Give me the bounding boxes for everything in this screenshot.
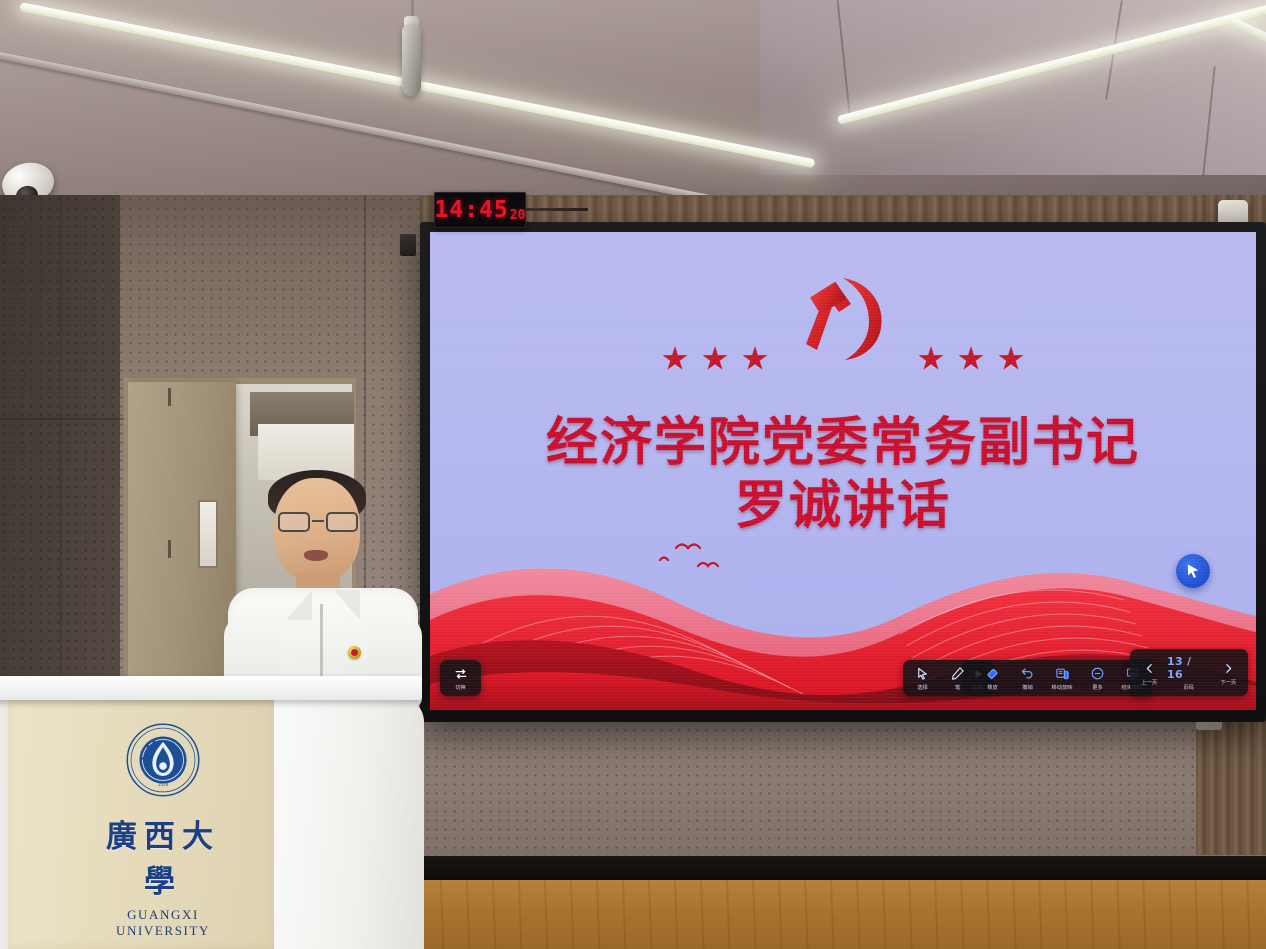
eraser-tool-button[interactable]: 橡皮 [975,664,1010,692]
podium-right-panel [274,696,424,949]
prev-page-label: 上一页 [1142,678,1158,686]
select-tool-button[interactable]: 选择 [905,664,940,692]
slide-title-line-1: 经济学院党委常务副书记 [430,412,1256,475]
undo-label: 撤销 [1022,683,1033,691]
red-star-icon [742,346,768,372]
slide-title: 经济学院党委常务副书记 罗诚讲话 [430,412,1256,539]
chevron-right-icon [1222,661,1235,676]
stars-right-group [918,346,1024,372]
chevron-left-icon [1143,661,1156,676]
svg-text:1928: 1928 [158,782,169,788]
hammer-and-sickle-emblem [773,270,913,370]
presentation-screen[interactable]: 经济学院党委常务副书记 罗诚讲话 [430,232,1256,710]
slide-title-line-2: 罗诚讲话 [430,475,1256,538]
stars-left-group [662,346,768,372]
eraser-tool-label: 橡皮 [987,683,998,691]
podium-top-surface [0,676,422,700]
mobile-present-button[interactable]: 移动放映 [1045,664,1080,692]
page-indicator-value: 13 / 16 [1167,655,1211,681]
guangxi-university-crest: 1928 [125,722,201,798]
collar-right [334,590,360,620]
toolbar-page-nav[interactable]: 上一页 13 / 16 页码 下一页 [1130,649,1248,696]
podium: 1928 廣西大學 GUANGXI UNIVERSITY [0,696,424,949]
eyeglasses [276,512,360,532]
interactive-display-bezel: 经济学院党委常务副书记 罗诚讲话 [420,222,1266,722]
switch-icon [454,666,468,681]
select-tool-label: 选择 [917,683,928,691]
clock-mounting-arm [526,208,588,211]
eraser-icon [985,666,1000,681]
lens-right [326,512,358,532]
glasses-bridge [312,520,324,522]
more-icon [1090,666,1105,681]
cursor-icon [915,666,930,681]
open-door[interactable] [128,382,236,706]
clock-seconds: 20 [510,208,526,223]
red-star-icon [958,346,984,372]
door-hinge [168,388,171,406]
red-star-icon [918,346,944,372]
wall-panel-seam [0,418,124,420]
wall-outlet-plate [400,234,416,256]
prev-page-button[interactable]: 上一页 [1132,659,1167,687]
page-indicator-label: 页码 [1184,683,1195,691]
lens-left [278,512,310,532]
hanging-microphone [402,24,421,96]
mobile-present-label: 移动放映 [1052,683,1073,691]
university-name-en: GUANGXI UNIVERSITY [88,907,238,939]
door-viewing-window [198,500,218,568]
toolbar-tools[interactable]: 选择 笔 橡皮 [903,660,1152,696]
birds-icon [660,545,718,567]
red-star-icon [998,346,1024,372]
pen-tool-label: 笔 [955,683,960,691]
page-indicator[interactable]: 13 / 16 页码 [1167,653,1211,692]
switch-button[interactable]: 切换 [443,664,478,692]
party-member-pin [348,646,361,659]
university-branding: 1928 廣西大學 GUANGXI UNIVERSITY [88,722,238,939]
more-label: 更多 [1092,683,1103,691]
door-hinge [168,540,171,558]
undo-icon [1020,666,1035,681]
pen-tool-button[interactable]: 笔 [940,664,975,692]
pen-icon [950,666,965,681]
speaker-person [228,478,418,708]
podium-front-panel: 1928 廣西大學 GUANGXI UNIVERSITY [8,696,280,949]
collar-left [286,590,312,620]
toolbar-switch[interactable]: 切换 [440,660,481,696]
next-page-button[interactable]: 下一页 [1211,659,1246,687]
red-star-icon [702,346,728,372]
undo-button[interactable]: 撤销 [1010,664,1045,692]
cursor-pointer-icon[interactable] [1176,554,1210,588]
mouth [304,550,328,561]
lecture-hall-photo: 经济学院党委常务副书记 罗诚讲话 [0,0,1266,949]
mobile-present-icon [1055,666,1070,681]
university-name-cn: 廣西大學 [88,811,238,901]
red-star-icon [662,346,688,372]
clock-hours-minutes: 14:45 [435,197,509,223]
more-button[interactable]: 更多 [1080,664,1115,692]
switch-label: 切换 [455,683,466,691]
next-page-label: 下一页 [1221,678,1237,686]
digital-clock: 14:45 20 [434,192,526,228]
